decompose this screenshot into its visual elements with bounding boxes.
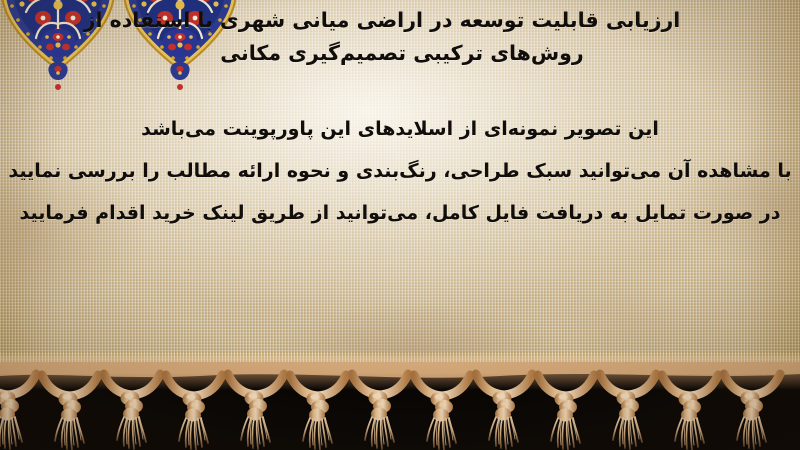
- slide-title: ارزیابی قابلیت توسعه در اراضی میانی شهری…: [22, 4, 782, 70]
- body-line-2: با مشاهده آن می‌توانید سبک طراحی، رنگ‌بن…: [0, 150, 800, 192]
- body-line-1: این تصویر نمونه‌ای از اسلایدهای این پاور…: [0, 108, 800, 150]
- presentation-slide: ارزیابی قابلیت توسعه در اراضی میانی شهری…: [0, 0, 800, 450]
- slide-text-layer: ارزیابی قابلیت توسعه در اراضی میانی شهری…: [0, 0, 800, 372]
- dark-backdrop: [0, 374, 800, 450]
- title-line-1: ارزیابی قابلیت توسعه در اراضی میانی شهری…: [22, 4, 782, 37]
- body-line-3: در صورت تمایل به دریافت فایل کامل، می‌تو…: [0, 192, 800, 234]
- slide-body: این تصویر نمونه‌ای از اسلایدهای این پاور…: [0, 108, 800, 234]
- title-line-2: روش‌های ترکیبی تصمیم‌گیری مکانی: [22, 37, 782, 70]
